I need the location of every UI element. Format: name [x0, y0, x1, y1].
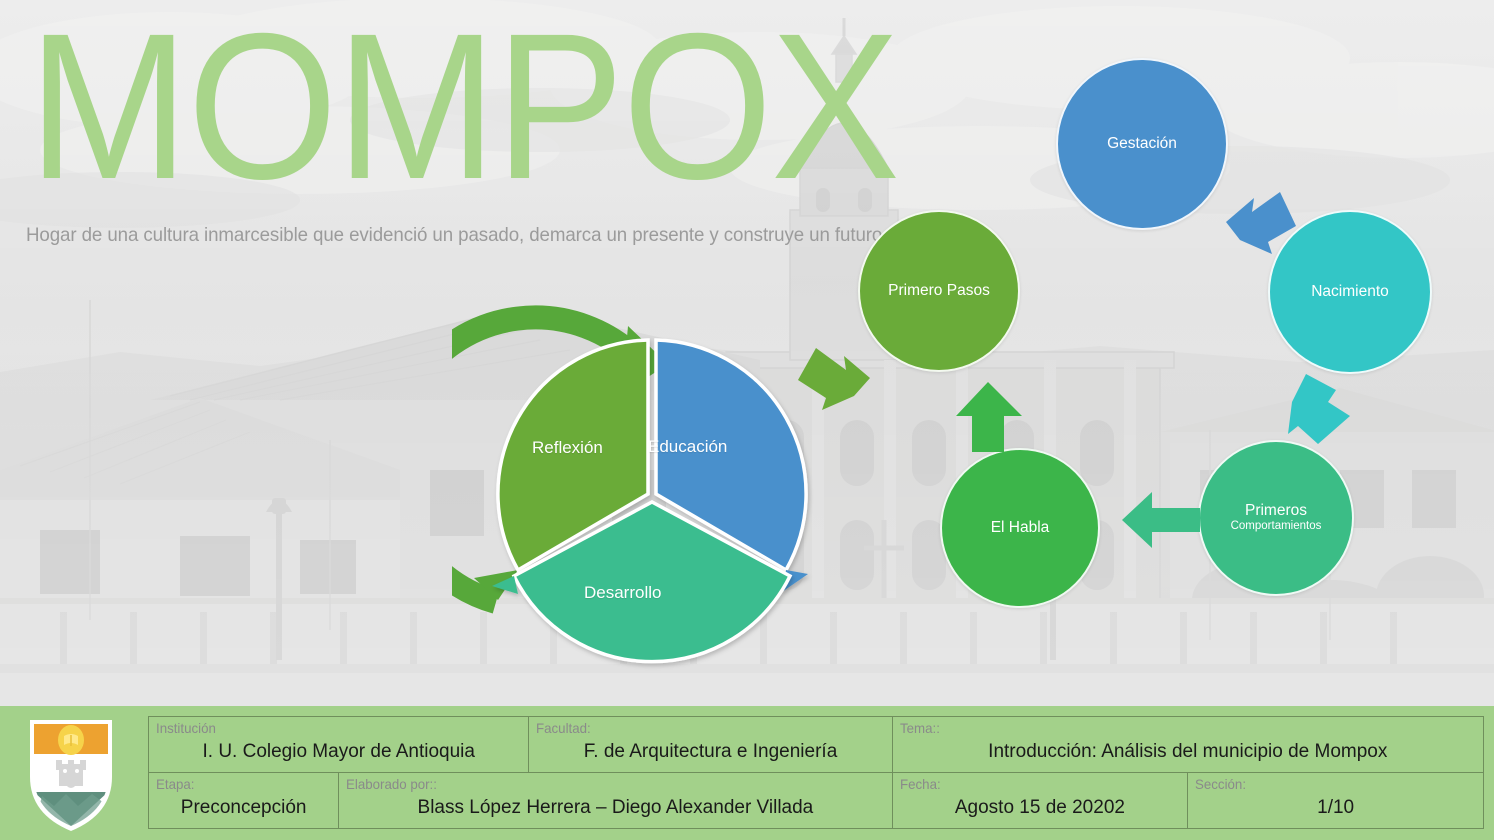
pie-label-desarrollo: Desarrollo	[584, 583, 661, 603]
page-subtitle: Hogar de una cultura inmarcesible que ev…	[26, 224, 887, 247]
cycle-node-label: El Habla	[991, 520, 1050, 537]
flow-arrow-pasos-educacion	[792, 340, 878, 416]
cycle-node-label: Primero Pasos	[888, 283, 990, 300]
cycle-node-primero-pasos: Primero Pasos	[858, 210, 1020, 372]
cell-etapa: Etapa: Preconcepción	[149, 773, 339, 829]
cell-label: Sección:	[1195, 776, 1246, 792]
cycle-node-label: Gestación	[1107, 136, 1177, 153]
slide-footer: Institución I. U. Colegio Mayor de Antio…	[0, 706, 1494, 840]
cycle-node-gestacion: Gestación	[1056, 58, 1228, 230]
flow-arrow-gestacion-nacimiento	[1218, 182, 1308, 262]
cycle-node-sublabel: Comportamientos	[1231, 520, 1322, 533]
cycle-node-el-habla: El Habla	[940, 448, 1100, 608]
cell-label: Tema::	[900, 720, 940, 736]
cell-institucion: Institución I. U. Colegio Mayor de Antio…	[149, 717, 529, 773]
cell-value: Blass López Herrera – Diego Alexander Vi…	[339, 797, 891, 819]
cell-label: Etapa:	[156, 776, 194, 792]
table-row: Institución I. U. Colegio Mayor de Antio…	[149, 717, 1484, 773]
flow-arrow-nacimiento-primeros	[1280, 368, 1360, 454]
cycle-node-primeros-comportamientos: Primeros Comportamientos	[1198, 440, 1354, 596]
cell-fecha: Fecha: Agosto 15 de 20202	[892, 773, 1188, 829]
cell-value: Introducción: Análisis del municipio de …	[893, 741, 1483, 763]
cell-elaborado-por: Elaborado por:: Blass López Herrera – Di…	[339, 773, 892, 829]
cell-label: Facultad:	[536, 720, 591, 736]
cell-value: F. de Arquitectura e Ingeniería	[529, 741, 891, 763]
cell-label: Fecha:	[900, 776, 941, 792]
cell-label: Elaborado por::	[346, 776, 437, 792]
institution-crest-icon	[22, 714, 120, 832]
cell-facultad: Facultad: F. de Arquitectura e Ingenierí…	[529, 717, 892, 773]
cell-tema: Tema:: Introducción: Análisis del munici…	[892, 717, 1483, 773]
cell-seccion: Sección: 1/10	[1188, 773, 1484, 829]
cycle-node-label: Nacimiento	[1311, 284, 1389, 301]
cell-value: Agosto 15 de 20202	[893, 797, 1188, 819]
cell-value: I. U. Colegio Mayor de Antioquia	[149, 741, 528, 763]
cell-value: Preconcepción	[149, 797, 338, 819]
flow-arrow-primeros-habla	[1118, 484, 1204, 556]
cycle-node-label: Primeros	[1245, 503, 1307, 520]
slide-info-table: Institución I. U. Colegio Mayor de Antio…	[148, 716, 1484, 829]
cell-value: 1/10	[1188, 797, 1483, 819]
presentation-slide: MOMPOX Hogar de una cultura inmarcesible…	[0, 0, 1494, 840]
table-row: Etapa: Preconcepción Elaborado por:: Bla…	[149, 773, 1484, 829]
page-title: MOMPOX	[28, 6, 898, 210]
pie-label-reflexion: Reflexión	[532, 438, 603, 458]
pie-label-educacion: Educación	[648, 437, 727, 457]
flow-arrow-habla-pasos	[952, 378, 1026, 456]
cell-label: Institución	[156, 720, 216, 736]
